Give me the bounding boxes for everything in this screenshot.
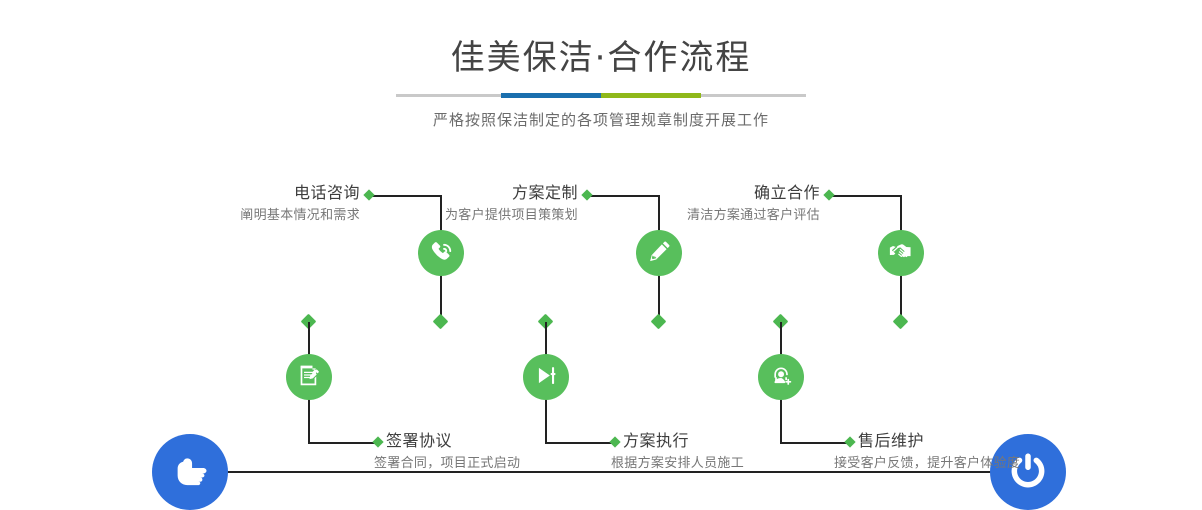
timeline-start-endpoint (152, 434, 228, 510)
page-title: 佳美保洁·合作流程 (0, 36, 1202, 80)
step-label-6: 售后维护 接受客户反馈，提升客户体验度 (858, 430, 1198, 474)
leader-line-5 (830, 195, 900, 197)
step-icon-1[interactable] (418, 230, 464, 276)
leader-dot-5 (823, 189, 834, 200)
step-icon-2[interactable] (286, 354, 332, 400)
header: 佳美保洁·合作流程 严格按照保洁制定的各项管理规章制度开展工作 (0, 0, 1202, 131)
sign-document-icon (296, 362, 323, 393)
leader-line-6 (780, 442, 850, 444)
divider-segment-blue (501, 93, 601, 98)
cooperation-process-infographic: 佳美保洁·合作流程 严格按照保洁制定的各项管理规章制度开展工作 (0, 0, 1202, 502)
play-execute-icon (533, 362, 560, 393)
step-desc-5: 清洁方案通过客户评估 (520, 206, 820, 226)
pencil-design-icon (646, 238, 673, 269)
axis-marker-1 (433, 314, 449, 330)
step-icon-3[interactable] (636, 230, 682, 276)
page-subtitle: 严格按照保洁制定的各项管理规章制度开展工作 (0, 109, 1202, 131)
axis-marker-3 (651, 314, 667, 330)
step-label-5: 确立合作 清洁方案通过客户评估 (520, 182, 820, 226)
step-desc-6: 接受客户反馈，提升客户体验度 (834, 454, 1198, 474)
process-timeline: 电话咨询 阐明基本情况和需求 签署协议 签署合同，项目正式启动 (0, 150, 1202, 502)
divider-segment-green (601, 93, 701, 98)
leader-dot-2 (372, 436, 383, 447)
handshake-icon (888, 238, 915, 269)
leader-line-4 (545, 442, 615, 444)
pointing-hand-icon (168, 448, 212, 496)
step-icon-4[interactable] (523, 354, 569, 400)
step-title-6: 售后维护 (858, 430, 1198, 452)
customer-support-icon (768, 362, 795, 393)
phone-call-icon (428, 238, 455, 269)
title-divider (396, 94, 806, 97)
step-icon-6[interactable] (758, 354, 804, 400)
step-icon-5[interactable] (878, 230, 924, 276)
axis-marker-5 (893, 314, 909, 330)
leader-line-2 (308, 442, 378, 444)
step-title-5: 确立合作 (520, 182, 820, 204)
